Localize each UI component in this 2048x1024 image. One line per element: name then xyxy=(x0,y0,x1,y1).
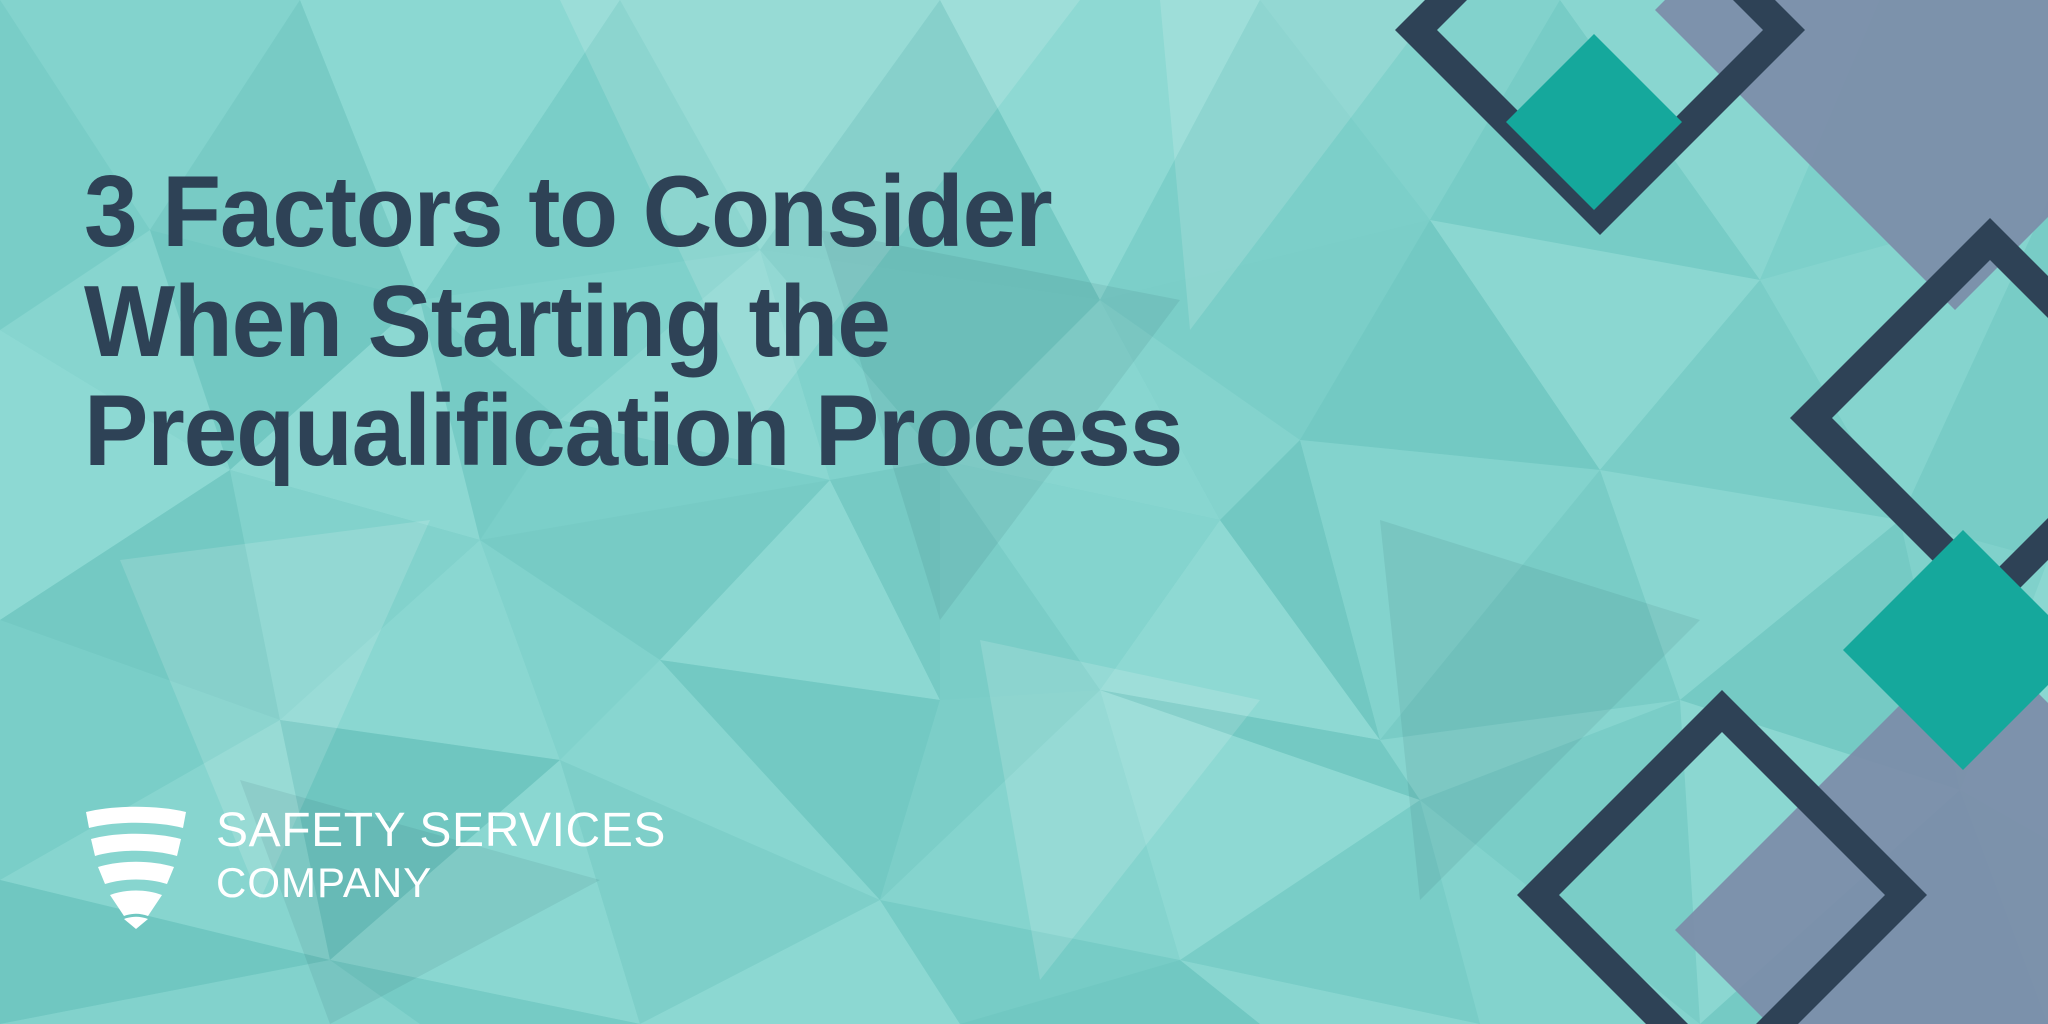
logo-line-company: COMPANY xyxy=(216,860,666,905)
shield-icon xyxy=(84,806,188,930)
teal-diamond-top-shape xyxy=(1506,34,1682,210)
logo-line-safety-services: SAFETY SERVICES xyxy=(216,806,666,856)
page-title: 3 Factors to Consider When Starting the … xyxy=(84,158,1211,487)
company-logo: SAFETY SERVICES COMPANY xyxy=(84,800,666,930)
logo-wordmark: SAFETY SERVICES COMPANY xyxy=(216,806,666,905)
navy-diamond-outline-right-shape xyxy=(1790,218,2048,618)
blog-header-banner: 3 Factors to Consider When Starting the … xyxy=(0,0,2048,1024)
slate-diamond-top-shape xyxy=(1655,0,2048,310)
